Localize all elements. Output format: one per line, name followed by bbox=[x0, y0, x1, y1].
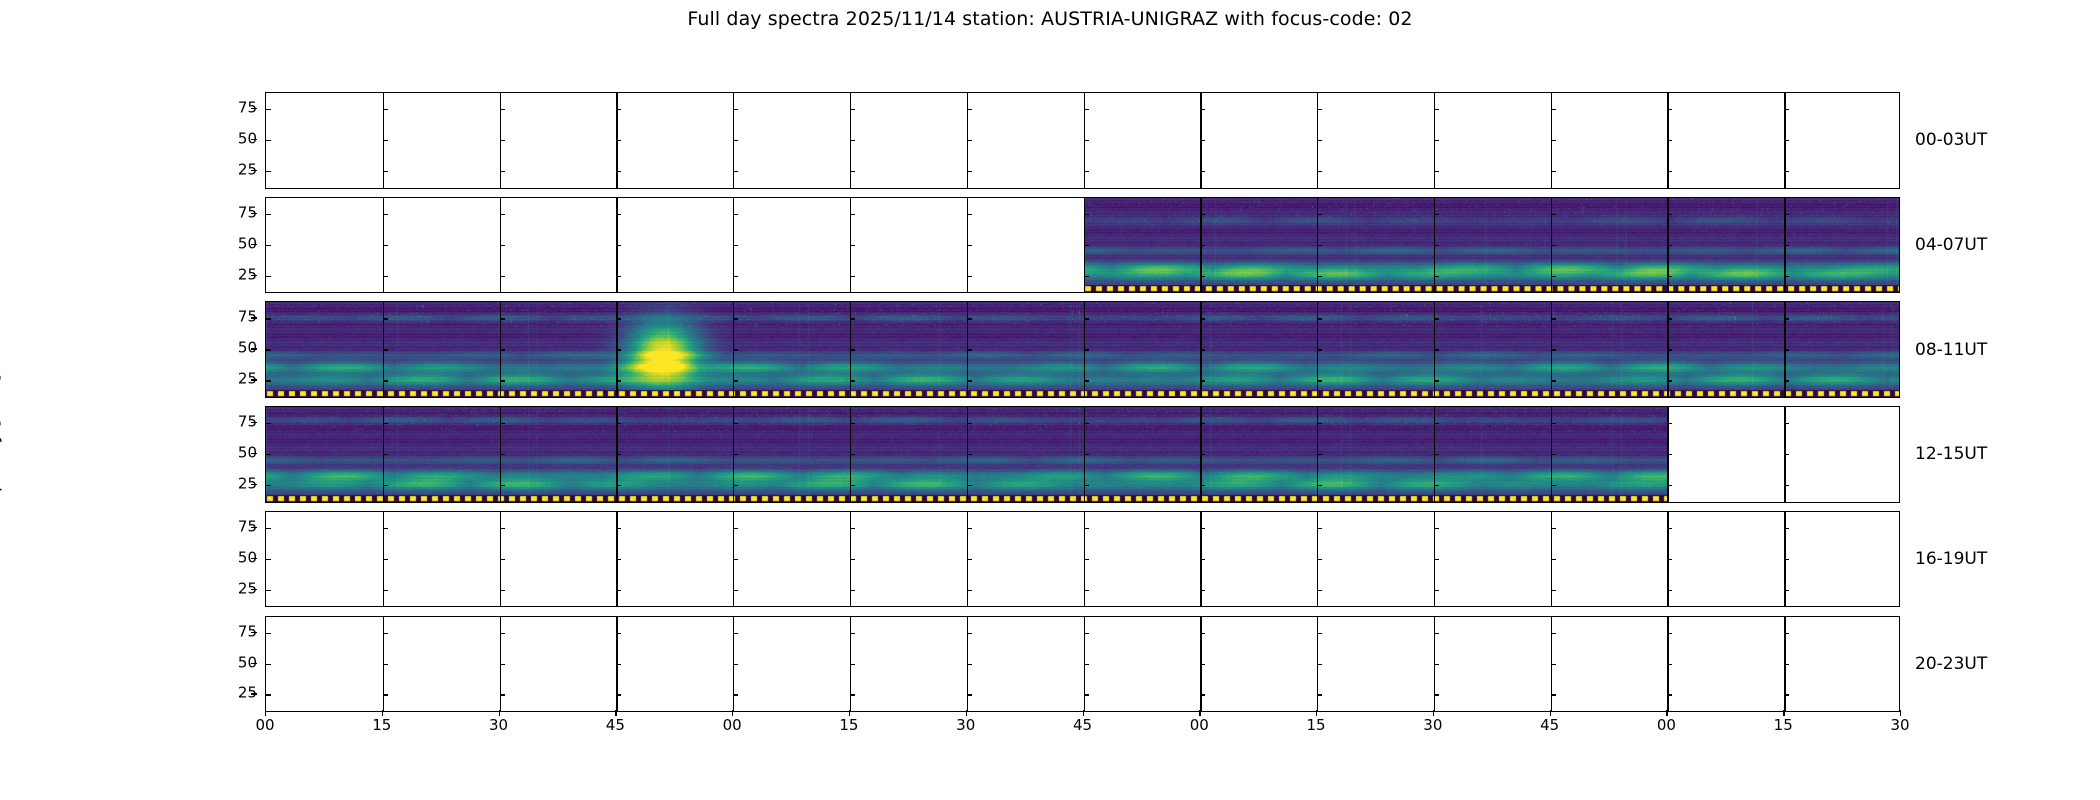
y-tick-mark bbox=[500, 664, 505, 665]
y-tick-mark bbox=[1667, 423, 1672, 424]
y-tick-label: 75 bbox=[217, 415, 257, 430]
y-tick-mark bbox=[266, 590, 271, 591]
spectrogram-row-12-15ut bbox=[265, 406, 1900, 503]
y-tick-mark bbox=[1084, 171, 1089, 172]
y-tick-mark bbox=[616, 590, 621, 591]
panel-divider bbox=[1784, 407, 1785, 502]
panel-divider bbox=[383, 93, 384, 188]
y-tick-mark bbox=[616, 109, 621, 110]
y-tick-mark bbox=[850, 664, 855, 665]
y-tick-mark bbox=[383, 664, 388, 665]
y-tick-mark bbox=[383, 528, 388, 529]
y-tick-mark bbox=[1317, 109, 1322, 110]
y-tick-mark bbox=[1784, 664, 1789, 665]
y-tick-mark bbox=[733, 528, 738, 529]
panel-divider bbox=[967, 93, 968, 188]
y-tick-mark bbox=[733, 214, 738, 215]
y-tick-mark bbox=[266, 140, 271, 141]
y-tick-mark bbox=[1667, 140, 1672, 141]
panel-divider bbox=[967, 512, 968, 607]
panel-divider bbox=[616, 512, 617, 607]
y-tick-mark bbox=[967, 694, 972, 695]
panel-divider bbox=[616, 93, 617, 188]
panel-divider bbox=[1551, 617, 1552, 712]
y-tick-mark bbox=[1667, 171, 1672, 172]
y-tick-mark bbox=[266, 214, 271, 215]
y-tick-mark bbox=[1667, 664, 1672, 665]
y-tick-label: 50 bbox=[217, 236, 257, 251]
x-tick-label: 45 bbox=[1073, 716, 1092, 734]
panel-divider bbox=[1784, 93, 1785, 188]
y-tick-label: 75 bbox=[217, 519, 257, 534]
y-tick-mark bbox=[1434, 694, 1439, 695]
panel-dividers bbox=[266, 93, 1899, 188]
y-tick-mark bbox=[1434, 590, 1439, 591]
y-tick-mark bbox=[733, 140, 738, 141]
panel-divider bbox=[500, 617, 501, 712]
x-tick-label: 00 bbox=[255, 716, 274, 734]
y-tick-mark bbox=[383, 214, 388, 215]
y-tick-mark bbox=[616, 559, 621, 560]
y-tick-mark bbox=[967, 559, 972, 560]
y-tick-mark bbox=[1434, 109, 1439, 110]
y-tick-mark bbox=[1200, 559, 1205, 560]
y-tick-mark bbox=[850, 633, 855, 634]
y-tick-mark bbox=[1551, 664, 1556, 665]
y-tick-mark bbox=[1200, 590, 1205, 591]
y-tick-mark bbox=[967, 633, 972, 634]
y-tick-mark bbox=[383, 171, 388, 172]
y-tick-mark bbox=[1200, 140, 1205, 141]
y-tick-mark bbox=[266, 171, 271, 172]
y-tick-mark bbox=[500, 528, 505, 529]
y-tick-mark bbox=[1434, 664, 1439, 665]
y-tick-mark bbox=[1784, 454, 1789, 455]
y-tick-mark bbox=[850, 109, 855, 110]
y-tick-mark bbox=[967, 528, 972, 529]
y-tick-mark bbox=[1434, 528, 1439, 529]
panel-divider bbox=[967, 198, 968, 293]
y-tick-label: 50 bbox=[217, 132, 257, 147]
spectrogram-row-04-07ut bbox=[265, 197, 1900, 294]
y-tick-mark bbox=[1551, 559, 1556, 560]
x-tick-label: 15 bbox=[372, 716, 391, 734]
x-tick-label-group: 001530450015304500153045001530 bbox=[265, 716, 1900, 746]
y-tick-mark bbox=[967, 171, 972, 172]
y-tick-mark bbox=[500, 171, 505, 172]
panel-divider bbox=[1667, 93, 1668, 188]
y-tick-mark bbox=[1784, 109, 1789, 110]
y-tick-mark bbox=[266, 528, 271, 529]
y-tick-mark bbox=[1667, 590, 1672, 591]
y-tick-mark bbox=[1551, 171, 1556, 172]
y-tick-label: 50 bbox=[217, 341, 257, 356]
row-label-04-07ut: 04-07UT bbox=[1915, 235, 1987, 255]
y-tick-mark bbox=[383, 109, 388, 110]
panel-divider bbox=[850, 93, 851, 188]
y-tick-mark bbox=[1200, 109, 1205, 110]
panel-divider bbox=[733, 93, 734, 188]
y-tick-mark bbox=[383, 590, 388, 591]
y-tick-mark bbox=[1317, 694, 1322, 695]
row-label-00-03ut: 00-03UT bbox=[1915, 130, 1987, 150]
y-tick-mark bbox=[733, 559, 738, 560]
panel-divider bbox=[733, 617, 734, 712]
panel-divider bbox=[500, 93, 501, 188]
row-label-16-19ut: 16-19UT bbox=[1915, 549, 1987, 569]
y-tick-mark bbox=[850, 559, 855, 560]
y-tick-mark bbox=[616, 276, 621, 277]
y-tick-mark bbox=[616, 664, 621, 665]
panel-divider bbox=[850, 617, 851, 712]
y-tick-mark bbox=[850, 140, 855, 141]
y-tick-mark bbox=[733, 664, 738, 665]
y-tick-mark bbox=[733, 633, 738, 634]
panel-divider bbox=[383, 198, 384, 293]
y-tick-mark bbox=[1667, 694, 1672, 695]
y-tick-mark bbox=[733, 245, 738, 246]
row-label-20-23ut: 20-23UT bbox=[1915, 654, 1987, 674]
y-tick-mark bbox=[850, 245, 855, 246]
x-tick-label: 30 bbox=[956, 716, 975, 734]
panel-dividers bbox=[266, 512, 1899, 607]
y-tick-mark bbox=[1551, 528, 1556, 529]
y-tick-mark bbox=[266, 664, 271, 665]
y-tick-mark bbox=[1200, 633, 1205, 634]
y-tick-mark bbox=[383, 245, 388, 246]
panel-divider bbox=[733, 512, 734, 607]
y-tick-mark bbox=[616, 633, 621, 634]
y-tick-mark bbox=[616, 694, 621, 695]
y-tick-mark bbox=[1317, 633, 1322, 634]
y-tick-mark bbox=[1784, 694, 1789, 695]
x-tick-label: 00 bbox=[1190, 716, 1209, 734]
y-tick-mark bbox=[967, 140, 972, 141]
y-tick-mark bbox=[1084, 664, 1089, 665]
y-tick-mark bbox=[1784, 633, 1789, 634]
panel-divider bbox=[1551, 512, 1552, 607]
y-tick-mark bbox=[616, 214, 621, 215]
panel-divider bbox=[1434, 512, 1435, 607]
panel-divider bbox=[733, 198, 734, 293]
panel-divider bbox=[383, 512, 384, 607]
panel-divider bbox=[967, 617, 968, 712]
y-tick-mark bbox=[850, 171, 855, 172]
y-tick-mark bbox=[1317, 559, 1322, 560]
y-tick-mark bbox=[850, 528, 855, 529]
panel-divider bbox=[616, 198, 617, 293]
panel-divider bbox=[1084, 617, 1085, 712]
y-tick-mark bbox=[500, 245, 505, 246]
y-tick-label: 50 bbox=[217, 446, 257, 461]
y-tick-mark bbox=[733, 694, 738, 695]
x-tick-label: 45 bbox=[606, 716, 625, 734]
y-tick-mark bbox=[850, 214, 855, 215]
spectrogram-row-20-23ut bbox=[265, 616, 1900, 713]
panel-divider bbox=[1200, 617, 1201, 712]
y-tick-mark bbox=[1084, 559, 1089, 560]
panel-divider bbox=[1784, 512, 1785, 607]
y-tick-mark bbox=[266, 276, 271, 277]
panel-divider bbox=[1667, 407, 1668, 502]
spectrogram-data-08-11ut bbox=[266, 302, 1900, 397]
y-tick-mark bbox=[733, 109, 738, 110]
y-tick-mark bbox=[1551, 140, 1556, 141]
row-label-group: 00-03UT04-07UT08-11UT12-15UT16-19UT20-23… bbox=[1915, 92, 2095, 712]
x-tick-label: 45 bbox=[1540, 716, 1559, 734]
y-tick-mark bbox=[383, 276, 388, 277]
y-tick-mark bbox=[1317, 528, 1322, 529]
row-label-12-15ut: 12-15UT bbox=[1915, 444, 1987, 464]
y-tick-mark bbox=[500, 694, 505, 695]
panel-divider bbox=[1667, 512, 1668, 607]
y-tick-mark bbox=[967, 109, 972, 110]
y-tick-mark bbox=[616, 171, 621, 172]
y-tick-mark bbox=[1551, 633, 1556, 634]
y-tick-mark bbox=[616, 140, 621, 141]
y-tick-mark bbox=[383, 140, 388, 141]
panel-divider bbox=[850, 512, 851, 607]
panel-divider bbox=[1084, 512, 1085, 607]
spectrogram-data-12-15ut bbox=[266, 407, 1667, 502]
x-tick-label: 30 bbox=[1423, 716, 1442, 734]
panel-divider bbox=[500, 198, 501, 293]
y-tick-mark bbox=[1667, 485, 1672, 486]
y-tick-label: 50 bbox=[217, 550, 257, 565]
panel-divider bbox=[1667, 617, 1668, 712]
x-tick-label: 15 bbox=[839, 716, 858, 734]
y-tick-mark bbox=[383, 559, 388, 560]
y-tick-mark bbox=[1317, 590, 1322, 591]
panel-divider bbox=[1200, 93, 1201, 188]
y-tick-mark bbox=[500, 140, 505, 141]
y-tick-label: 50 bbox=[217, 655, 257, 670]
y-tick-mark bbox=[850, 276, 855, 277]
panel-divider bbox=[1434, 617, 1435, 712]
y-tick-mark bbox=[1317, 664, 1322, 665]
y-tick-label: 75 bbox=[217, 101, 257, 116]
y-tick-mark bbox=[967, 276, 972, 277]
y-tick-mark bbox=[1200, 694, 1205, 695]
y-tick-mark bbox=[1317, 171, 1322, 172]
y-tick-mark bbox=[266, 245, 271, 246]
y-tick-mark bbox=[1084, 590, 1089, 591]
panel-divider bbox=[1317, 93, 1318, 188]
y-tick-mark bbox=[1551, 590, 1556, 591]
y-tick-mark bbox=[500, 109, 505, 110]
spectrogram-row-08-11ut bbox=[265, 301, 1900, 398]
x-tick-label: 15 bbox=[1307, 716, 1326, 734]
panel-divider bbox=[1784, 617, 1785, 712]
y-tick-mark bbox=[1784, 559, 1789, 560]
y-tick-label: 75 bbox=[217, 624, 257, 639]
y-tick-mark bbox=[500, 633, 505, 634]
y-axis-title: Frequency [MHz] bbox=[0, 300, 3, 600]
x-tick-label: 30 bbox=[489, 716, 508, 734]
y-tick-label-group: 755025755025755025755025755025755025 bbox=[205, 92, 257, 712]
x-tick-label: 15 bbox=[1774, 716, 1793, 734]
y-tick-mark bbox=[266, 633, 271, 634]
y-tick-label: 25 bbox=[217, 267, 257, 282]
spectrogram-data-04-07ut bbox=[1084, 198, 1901, 293]
y-tick-mark bbox=[1784, 528, 1789, 529]
y-tick-label: 25 bbox=[217, 581, 257, 596]
y-tick-mark bbox=[967, 664, 972, 665]
spectrogram-row-00-03ut bbox=[265, 92, 1900, 189]
panel-dividers bbox=[266, 617, 1899, 712]
y-tick-mark bbox=[383, 633, 388, 634]
x-tick-label: 00 bbox=[1657, 716, 1676, 734]
y-tick-mark bbox=[1551, 694, 1556, 695]
panel-divider bbox=[1317, 617, 1318, 712]
panel-divider bbox=[383, 617, 384, 712]
y-tick-mark bbox=[266, 694, 271, 695]
y-tick-mark bbox=[1084, 528, 1089, 529]
y-tick-label: 75 bbox=[217, 205, 257, 220]
y-tick-label: 25 bbox=[217, 477, 257, 492]
y-tick-mark bbox=[967, 214, 972, 215]
y-tick-mark bbox=[1084, 633, 1089, 634]
y-tick-mark bbox=[500, 559, 505, 560]
panel-divider bbox=[1200, 512, 1201, 607]
panel-divider bbox=[500, 512, 501, 607]
y-tick-mark bbox=[1317, 140, 1322, 141]
y-tick-mark bbox=[1434, 171, 1439, 172]
y-tick-mark bbox=[616, 245, 621, 246]
y-tick-mark bbox=[733, 590, 738, 591]
panel-divider bbox=[1434, 93, 1435, 188]
spectrogram-row-16-19ut bbox=[265, 511, 1900, 608]
y-tick-mark bbox=[1434, 140, 1439, 141]
panel-divider bbox=[1551, 93, 1552, 188]
panel-divider bbox=[1317, 512, 1318, 607]
page-title: Full day spectra 2025/11/14 station: AUS… bbox=[0, 8, 2100, 30]
y-tick-mark bbox=[1200, 528, 1205, 529]
panel-divider bbox=[616, 617, 617, 712]
y-tick-mark bbox=[616, 528, 621, 529]
y-tick-mark bbox=[266, 109, 271, 110]
x-tick-label: 00 bbox=[723, 716, 742, 734]
y-tick-mark bbox=[1784, 485, 1789, 486]
y-tick-mark bbox=[1200, 171, 1205, 172]
y-tick-mark bbox=[733, 276, 738, 277]
y-tick-mark bbox=[1784, 423, 1789, 424]
spectrogram-plot-area bbox=[265, 92, 1900, 712]
y-tick-mark bbox=[1434, 633, 1439, 634]
panel-divider bbox=[850, 198, 851, 293]
y-tick-mark bbox=[1667, 559, 1672, 560]
y-tick-mark bbox=[1667, 454, 1672, 455]
y-tick-mark bbox=[383, 694, 388, 695]
y-tick-label: 25 bbox=[217, 372, 257, 387]
y-tick-label: 25 bbox=[217, 686, 257, 701]
x-tick-label: 30 bbox=[1890, 716, 1909, 734]
y-tick-mark bbox=[1784, 171, 1789, 172]
row-label-08-11ut: 08-11UT bbox=[1915, 340, 1987, 360]
y-tick-mark bbox=[500, 276, 505, 277]
y-tick-mark bbox=[967, 245, 972, 246]
y-tick-mark bbox=[1784, 590, 1789, 591]
y-tick-mark bbox=[1200, 664, 1205, 665]
y-tick-mark bbox=[850, 694, 855, 695]
y-tick-mark bbox=[967, 590, 972, 591]
y-tick-mark bbox=[500, 590, 505, 591]
y-tick-mark bbox=[733, 171, 738, 172]
panel-divider bbox=[1084, 93, 1085, 188]
y-tick-mark bbox=[1084, 140, 1089, 141]
y-tick-mark bbox=[1667, 528, 1672, 529]
y-tick-mark bbox=[850, 590, 855, 591]
y-tick-mark bbox=[266, 559, 271, 560]
y-tick-mark bbox=[500, 214, 505, 215]
y-tick-mark bbox=[1551, 109, 1556, 110]
y-tick-mark bbox=[1667, 633, 1672, 634]
y-tick-mark bbox=[1084, 694, 1089, 695]
y-tick-mark bbox=[1084, 109, 1089, 110]
y-tick-label: 75 bbox=[217, 310, 257, 325]
y-tick-mark bbox=[1784, 140, 1789, 141]
y-tick-mark bbox=[1434, 559, 1439, 560]
y-tick-label: 25 bbox=[217, 162, 257, 177]
y-tick-mark bbox=[1667, 109, 1672, 110]
